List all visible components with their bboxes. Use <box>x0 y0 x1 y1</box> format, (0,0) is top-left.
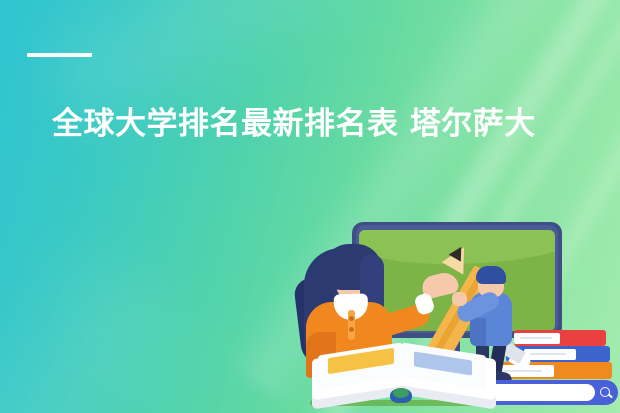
boy-hair <box>476 266 506 284</box>
woman-button <box>349 316 354 321</box>
light-streak-decoration <box>0 218 231 413</box>
woman-button <box>349 327 354 332</box>
article-cover-banner: 全球大学排名最新排名表 塔尔萨大 <box>0 0 620 413</box>
accent-rule <box>27 53 92 57</box>
woman-placket <box>348 310 355 340</box>
book-bottom-page-line <box>502 370 542 372</box>
boy-hand <box>452 292 467 306</box>
open-book-spine-highlight <box>393 388 409 398</box>
book-middle-page-line <box>530 353 566 355</box>
education-illustration <box>296 206 620 413</box>
page-title: 全球大学排名最新排名表 塔尔萨大 <box>52 104 612 144</box>
boy-torso-shadow <box>470 318 486 346</box>
search-input[interactable] <box>487 384 595 401</box>
book-top-page-line <box>520 337 552 339</box>
